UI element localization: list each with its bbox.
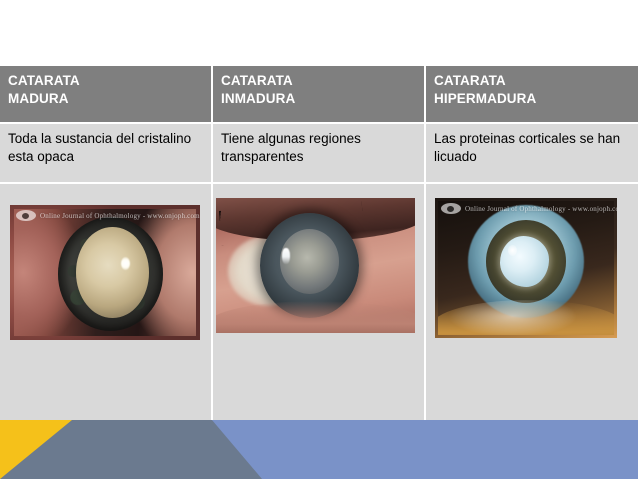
cataract-comparison-table-wrapper: CATARATA MADURA CATARATA INMADURA CATARA… [0, 66, 638, 415]
column-header-line-2: HIPERMADURA [434, 90, 630, 108]
light-reflection-glint [282, 248, 290, 264]
table-description-row: Toda la sustancia del cristalino esta op… [0, 123, 638, 183]
description-cell-inmadura: Tiene algunas regiones transparentes [212, 123, 425, 183]
image-cell-inmadura [212, 183, 425, 443]
table-header-row: CATARATA MADURA CATARATA INMADURA CATARA… [0, 66, 638, 123]
column-header-catarata-hipermadura: CATARATA HIPERMADURA [425, 66, 638, 123]
eye-scene-layer [438, 201, 614, 335]
column-header-line-2: INMADURA [221, 90, 416, 108]
slide-canvas: CATARATA MADURA CATARATA INMADURA CATARA… [0, 0, 638, 479]
eye-scene-layer [14, 209, 196, 336]
column-header-line-1: CATARATA [221, 72, 416, 90]
lower-eyelid-shape [438, 300, 614, 335]
cataract-comparison-table: CATARATA MADURA CATARATA INMADURA CATARA… [0, 66, 638, 443]
column-header-catarata-inmadura: CATARATA INMADURA [212, 66, 425, 123]
table-image-row: Online Journal of Ophthalmology - www.on… [0, 183, 638, 443]
mature-cataract-eye-photo: Online Journal of Ophthalmology - www.on… [10, 205, 200, 340]
column-header-line-1: CATARATA [8, 72, 203, 90]
photo-positioner [213, 184, 424, 443]
photo-positioner: Online Journal of Ophthalmology - www.on… [0, 184, 211, 443]
photo-positioner: Online Journal of Ophthalmology - www.on… [426, 184, 638, 443]
hypermature-cataract-eye-photo: Online Journal of Ophthalmology - www.on… [435, 198, 617, 338]
table-header-row-group: CATARATA MADURA CATARATA INMADURA CATARA… [0, 66, 638, 123]
image-cell-madura: Online Journal of Ophthalmology - www.on… [0, 183, 212, 443]
description-cell-hipermadura: Las proteinas corticales se han licuado [425, 123, 638, 183]
column-header-catarata-madura: CATARATA MADURA [0, 66, 212, 123]
immature-cataract-eye-photo [216, 198, 415, 333]
image-cell-hipermadura: Online Journal of Ophthalmology - www.on… [425, 183, 638, 443]
column-header-line-2: MADURA [8, 90, 203, 108]
column-header-line-1: CATARATA [434, 72, 630, 90]
lower-eyelid-shape [216, 301, 415, 333]
footer-decoration-svg [0, 418, 638, 479]
table-body: Toda la sustancia del cristalino esta op… [0, 123, 638, 443]
description-cell-madura: Toda la sustancia del cristalino esta op… [0, 123, 212, 183]
slide-footer-chevron-band [0, 418, 638, 479]
liquefied-lens-shape [500, 236, 549, 287]
opaque-lens-shape [76, 227, 149, 318]
